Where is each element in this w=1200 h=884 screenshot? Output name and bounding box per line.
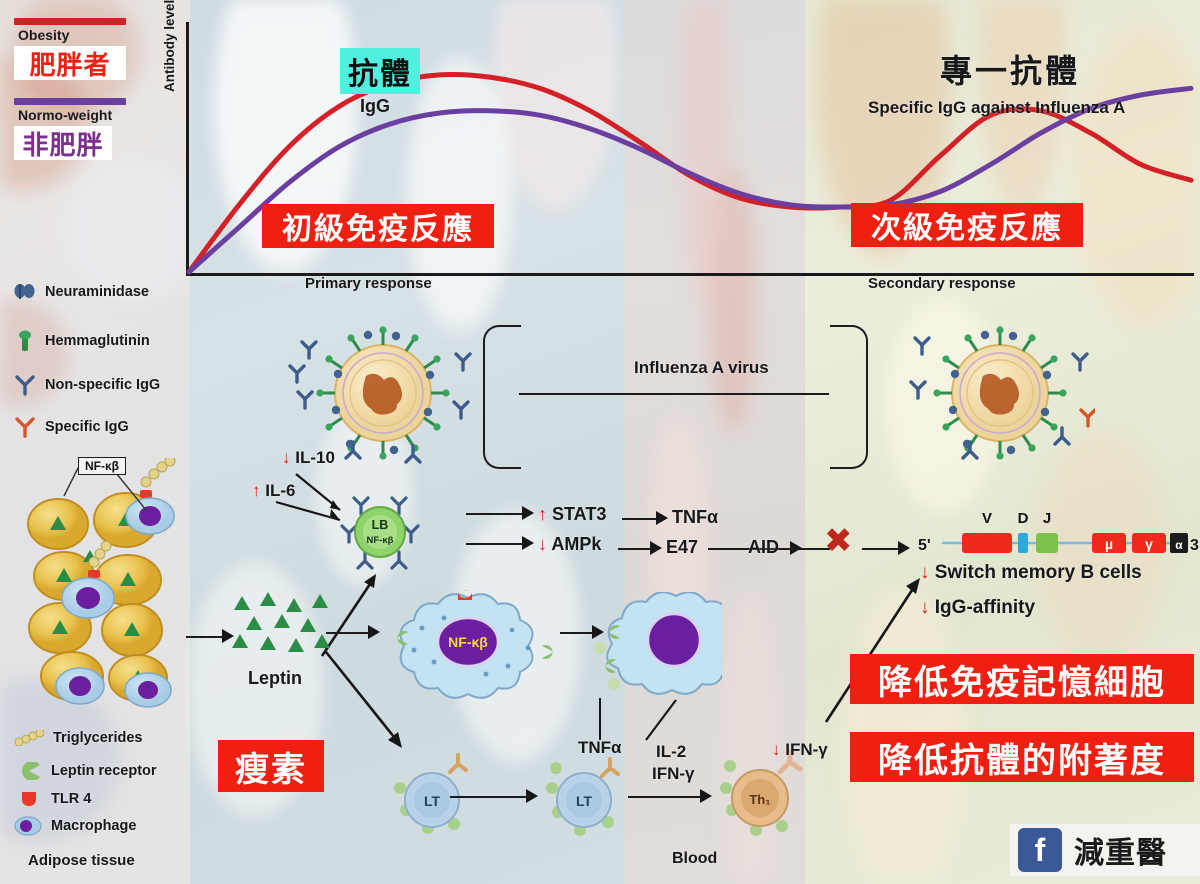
leptin-label: Leptin [248,668,302,689]
normo-label-cn: 非肥胖 [22,125,103,162]
arrow-to-ampk [466,543,528,545]
arrow-to-stat3 [466,513,528,515]
gene-three-prime-label: 3 [1190,537,1199,555]
adipose-tissue-illustration [16,458,184,720]
tlr4-icon [18,790,42,808]
stat3-group: ↑ STAT3 [538,504,606,525]
arrow-lt-to-lt [450,796,532,798]
legend-item-hemmaglutinin: Hemmaglutinin [14,330,150,352]
obesity-label-cn: 肥胖者 [29,45,110,82]
macrophage-secondary [552,592,722,700]
svg-text:µ: µ [1105,536,1113,552]
normo-label-cn-box: 非肥胖 [14,126,112,160]
il2-ifng-connector [642,698,682,744]
antibody-cn-text: 抗體 [348,58,412,91]
diagram-canvas: Obesity 肥胖者 Normo-weight 非肥胖 Neuraminida… [0,0,1200,884]
antibody-cn-highlight: 抗體 [340,48,420,94]
blood-label: Blood [672,850,717,868]
legend-item-leptin-receptor: Leptin receptor [18,762,157,780]
up-arrow-icon: ↑ [538,504,547,524]
facebook-icon[interactable]: f [1018,828,1062,872]
adipose-nfkb-label: NF-κβ [85,459,119,473]
down-arrow-icon: ↓ [772,740,781,759]
arrowhead-tnfa [656,511,670,525]
adipose-tissue-caption: Adipose tissue [28,852,135,869]
normo-color-bar [14,98,126,105]
callout-reduce-antibody-affinity: 降低抗體的附著度 [850,732,1194,782]
series-legend: Obesity 肥胖者 Normo-weight 非肥胖 [14,18,134,160]
virus-bracket-right [830,325,868,469]
arrowhead-macrophage [368,625,382,639]
legend-label: Triglycerides [53,730,142,746]
t-cell-label-2: LT [576,793,593,809]
e47-label: E47 [666,537,698,558]
tnfa-bottom-label: TNFα [578,738,622,758]
tnfa-inhibitor-line [599,698,601,740]
adipose-nfkb-box: NF-κβ [78,457,126,475]
non-specific-igg-icon [14,374,36,396]
facebook-watermark[interactable]: f 減重醫 [1010,824,1200,876]
legend-label: Hemmaglutinin [45,333,150,349]
arrowhead-leptin [222,629,236,643]
legend-label: Macrophage [51,818,136,834]
secondary-response-callout: 次級免疫反應 [851,203,1083,247]
gene-five-prime-label: 5' [918,537,931,555]
arrowhead-ampk [522,536,536,550]
arrowhead-lt2 [526,789,540,803]
legend-item-tlr4: TLR 4 [18,790,91,808]
activated-macrophage: NF-κβ [382,590,568,700]
legend-label: Specific IgG [45,419,129,435]
t-cell-label-1: LT [424,793,441,809]
legend-label: Non-specific IgG [45,377,160,393]
outcome-igg-affinity: ↓ IgG-affinity [920,597,1035,619]
specific-igg-icon [14,416,36,438]
ifng-mid-label: IFN-γ [652,764,695,784]
th1-to-gene-arrow [820,570,930,730]
facebook-glyph: f [1035,834,1046,866]
arrowhead-stat3 [522,506,536,520]
svg-text:J: J [1043,510,1051,527]
watermark-text: 減重醫 [1074,828,1167,872]
leptin-receptor-icon [18,762,42,780]
arrow-lt-to-th1 [628,796,706,798]
hemmaglutinin-icon [14,330,36,352]
obesity-color-bar [14,18,126,25]
macrophage-icon [14,816,42,836]
legend-label: TLR 4 [51,791,91,807]
svg-text:γ: γ [1145,536,1153,552]
svg-text:α: α [1175,538,1183,552]
legend-label: Neuraminidase [45,284,149,300]
specific-igg-subtitle: Specific IgG against Influenza A [868,98,1125,118]
immunoglobulin-locus: V D J µ γ α [940,505,1192,557]
cytokine-arrows [250,440,410,580]
th1-cell: Th₁ [712,748,822,842]
influenza-virus-label: Influenza A virus [634,358,769,378]
chart-y-axis-label: Antibody levels [162,0,177,92]
obesity-label-en: Obesity [18,27,134,43]
aid-label: AID [748,537,779,558]
arrowhead-e47 [650,541,664,555]
specific-antibody-cn: 專一抗體 [940,46,1080,92]
ifng-right-label: IFN-γ [785,740,828,759]
arrowhead-gene [898,541,912,555]
down-arrow-icon: ↓ [538,534,547,554]
macrophage-nucleus-label: NF-κβ [448,634,488,650]
legend-label: Leptin receptor [51,763,157,779]
outcome-label: Switch memory B cells [935,562,1142,583]
il2-label: IL-2 [656,742,686,762]
secondary-response-axis-label: Secondary response [868,275,1016,292]
normo-label-en: Normo-weight [18,107,134,123]
legend-item-macrophage: Macrophage [14,816,136,836]
primary-response-axis-label: Primary response [305,275,432,292]
block-marker-icon: ✖ [824,524,853,558]
tnfa-top-label: TNFα [672,507,718,528]
chart-series-title-igg: IgG [360,96,390,117]
ampk-group: ↓ AMPk [538,534,601,555]
leptin-cn-callout: 瘦素 [218,740,324,792]
ifng-right-group: ↓ IFN-γ [772,740,828,760]
th1-label: Th₁ [749,792,770,807]
legend-item-non-specific-igg: Non-specific IgG [14,374,160,396]
triglycerides-icon [14,730,44,746]
primary-response-callout: 初級免疫反應 [262,204,494,248]
virus-bracket-left [483,325,521,469]
virus-connector-line [519,393,829,395]
legend-item-neuraminidase: Neuraminidase [14,282,149,302]
arrow-leptin-to-macrophage [326,632,374,634]
outcome-label: IgG-affinity [935,597,1035,618]
legend-item-triglycerides: Triglycerides [14,730,142,746]
influenza-virus-right [905,318,1095,468]
svg-text:V: V [982,510,992,527]
svg-text:D: D [1018,510,1029,527]
obesity-label-cn-box: 肥胖者 [14,46,126,80]
legend-item-specific-igg: Specific IgG [14,416,129,438]
stat3-label: STAT3 [552,504,606,524]
callout-reduce-memory-cells: 降低免疫記憶細胞 [850,654,1194,704]
ampk-label: AMPk [551,534,601,554]
neuraminidase-icon [14,282,36,302]
outcome-switch-memory: ↓ Switch memory B cells [920,562,1142,584]
